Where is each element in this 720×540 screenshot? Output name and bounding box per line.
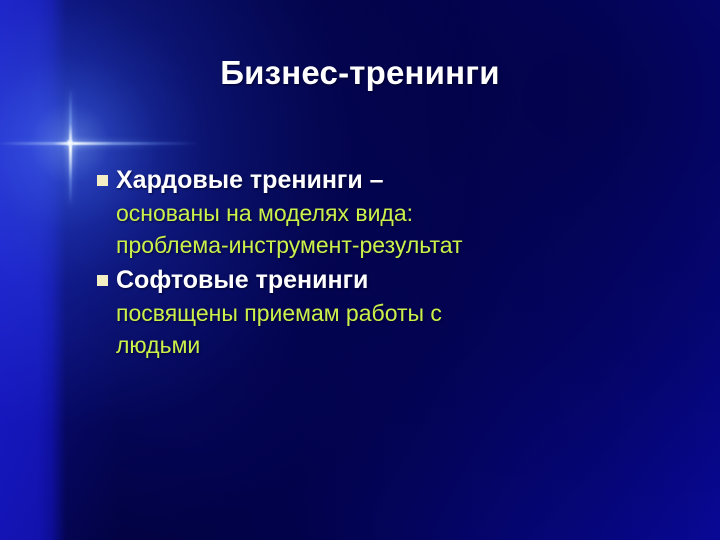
bullet-sub-line: посвящены приемам работы с <box>97 297 677 329</box>
bullet-sub-line: проблема-инструмент-результат <box>97 229 677 261</box>
star-beam-vertical-soft <box>66 83 75 211</box>
square-bullet-icon <box>97 275 108 286</box>
star-beam-vertical <box>69 89 72 205</box>
bullet-sub-line: людьми <box>97 329 677 361</box>
bullet-item: Хардовые тренинги – основаны на моделях … <box>97 164 677 261</box>
bullet-heading-text: Хардовые тренинги – <box>116 164 677 197</box>
slide-body: Хардовые тренинги – основаны на моделях … <box>97 164 677 364</box>
star-core <box>66 139 74 147</box>
star-beam-horizontal <box>0 142 200 145</box>
presentation-slide: Бизнес-тренинги Хардовые тренинги – осно… <box>0 0 720 540</box>
bullet-heading-row: Хардовые тренинги – <box>97 164 677 197</box>
slide-title: Бизнес-тренинги <box>60 53 660 93</box>
bullet-heading-text: Софтовые тренинги <box>116 264 677 297</box>
star-beam-horizontal-soft <box>0 139 200 148</box>
bullet-item: Софтовые тренинги посвящены приемам рабо… <box>97 264 677 361</box>
bullet-sub-line: основаны на моделях вида: <box>97 197 677 229</box>
square-bullet-icon <box>97 175 108 186</box>
bullet-heading-row: Софтовые тренинги <box>97 264 677 297</box>
